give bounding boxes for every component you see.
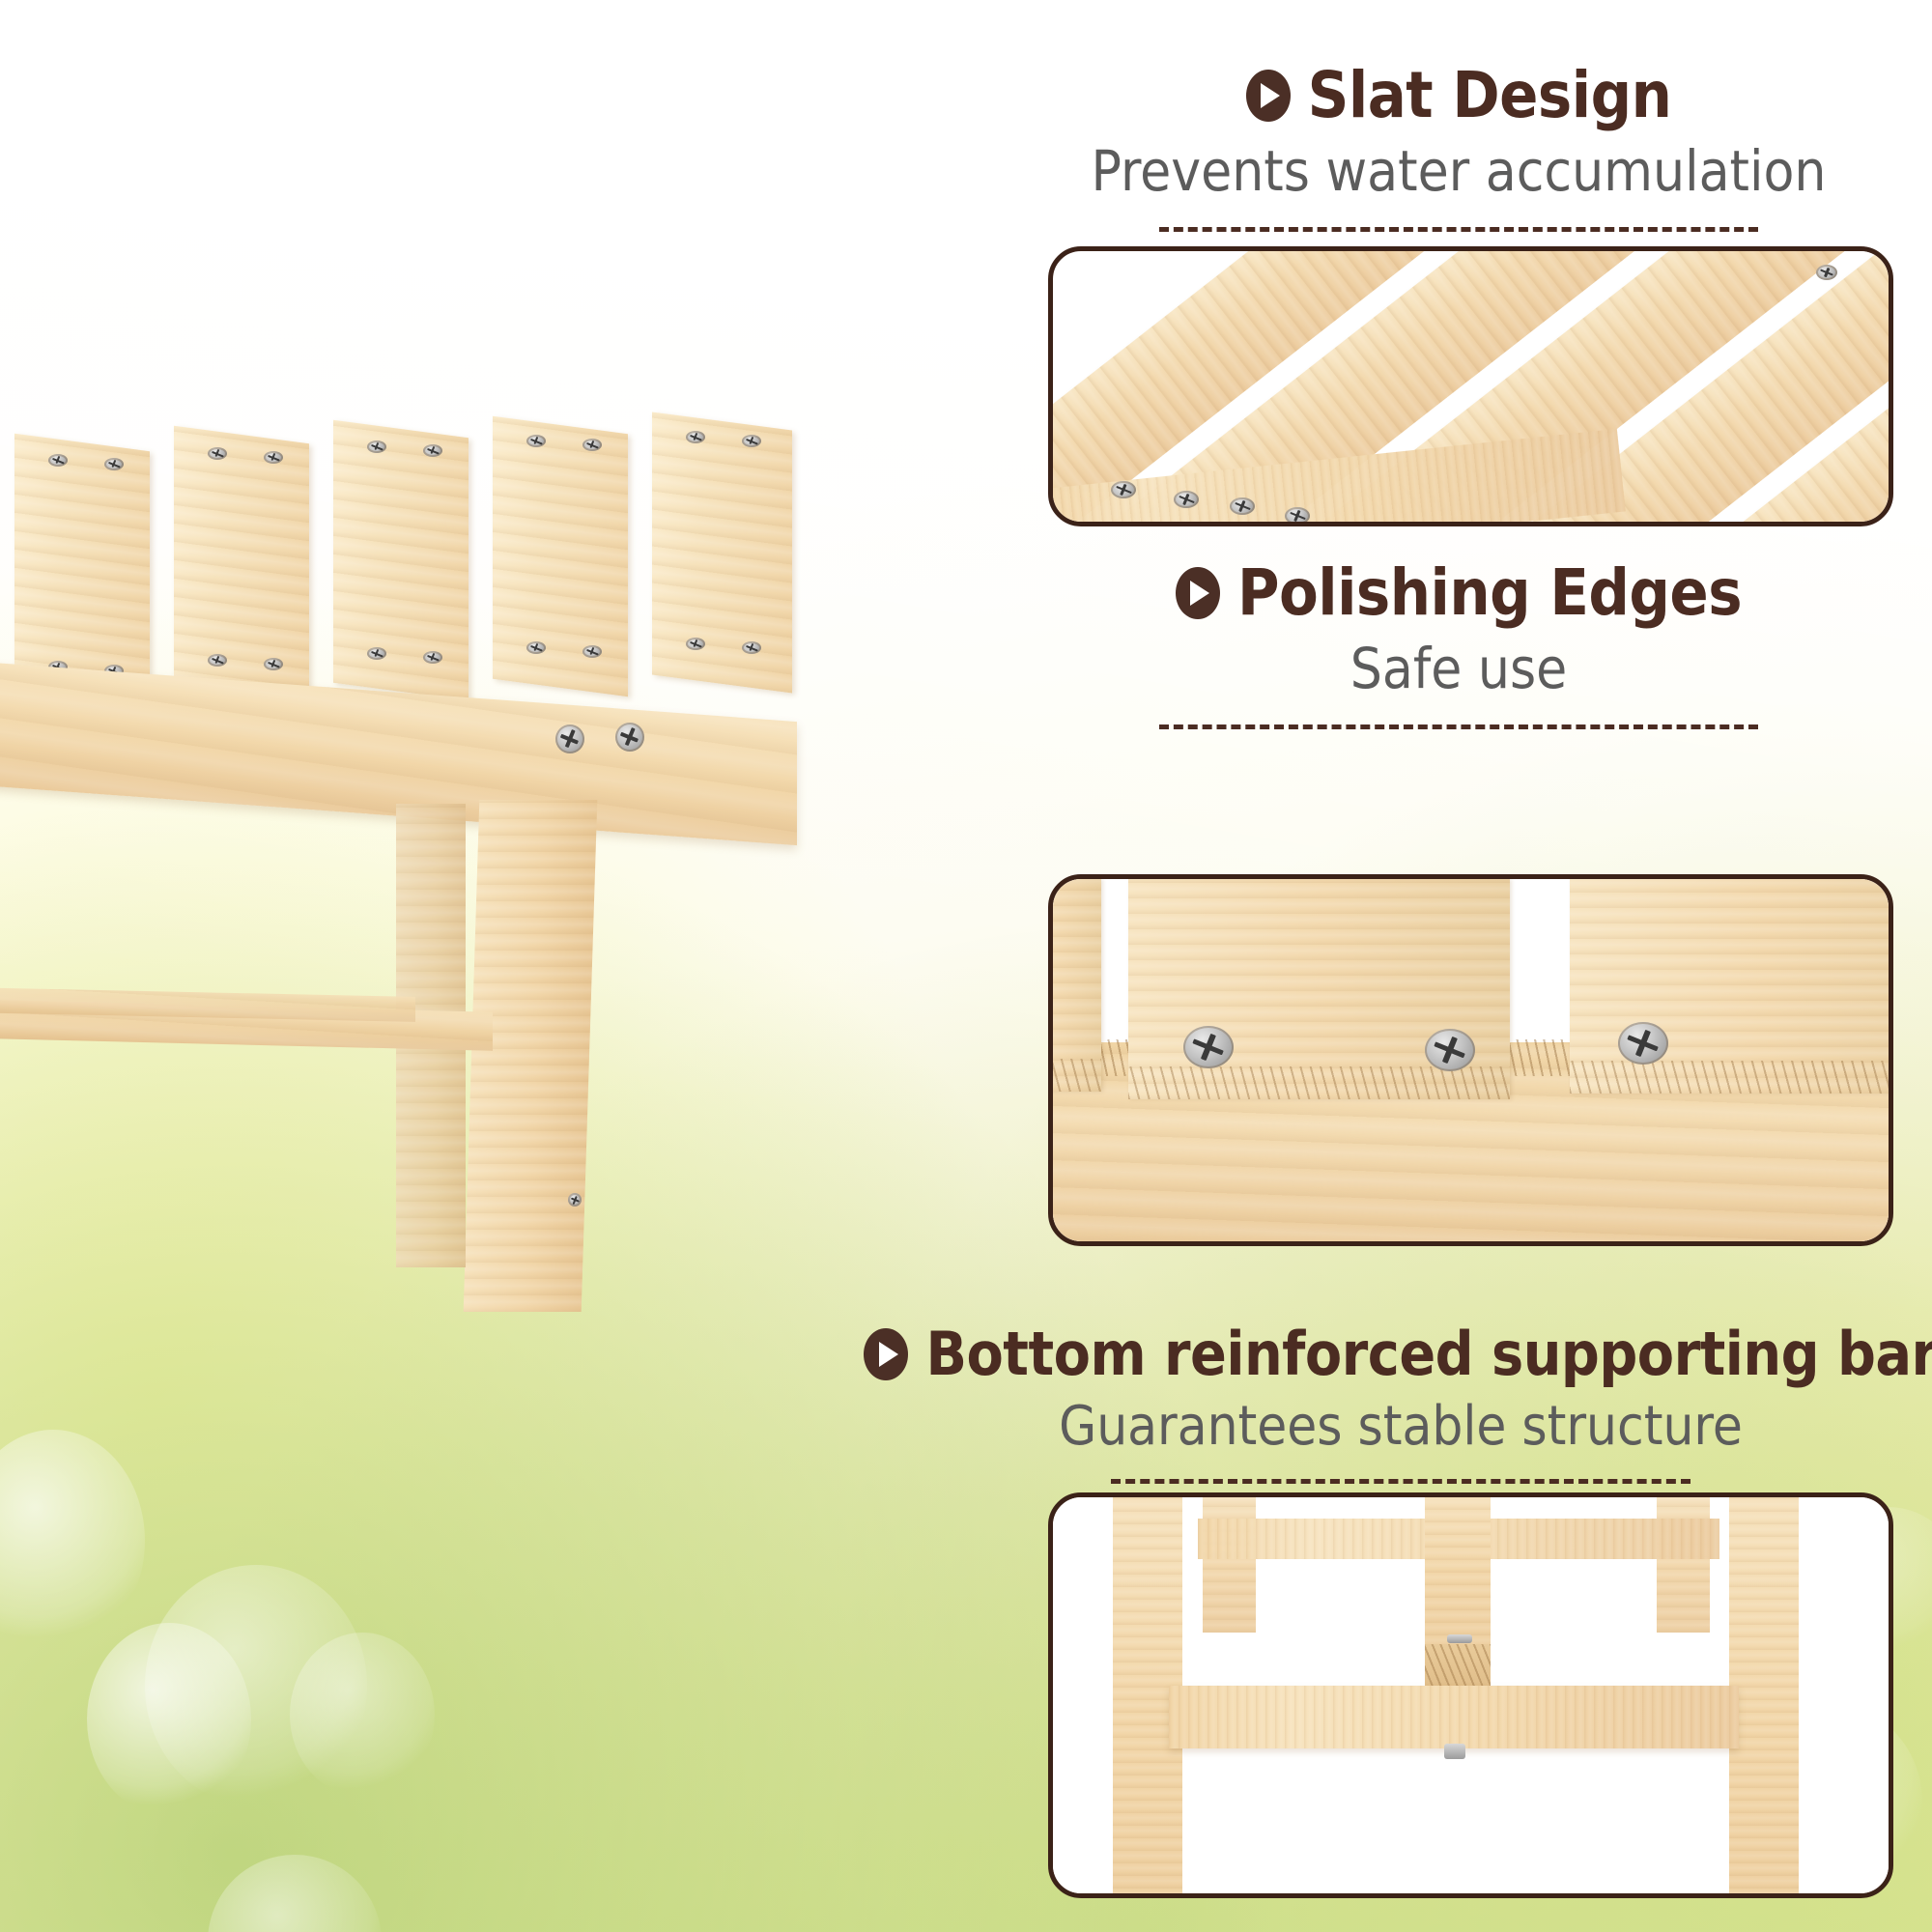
screw-head: [568, 1193, 582, 1207]
bench-leg-front-right: [1729, 1492, 1799, 1898]
feature-3-subtitle: Guarantees stable structure: [889, 1395, 1913, 1458]
bench-slat: [333, 420, 469, 700]
polished-edge: [1048, 1059, 1101, 1092]
feature-block-3: Bottom reinforced supporting bar Guarant…: [889, 1319, 1913, 1484]
feature-3-divider: [1111, 1479, 1690, 1484]
play-triangle-icon: [864, 1328, 908, 1380]
feature-1-divider: [1159, 227, 1758, 232]
vertical-slat: [1570, 879, 1893, 1094]
screw-head: [208, 447, 227, 460]
screw-head: [367, 440, 386, 453]
screw-head: [582, 439, 602, 451]
screw-head: [48, 454, 68, 467]
screw-head: [1174, 491, 1199, 508]
screw-head: [1618, 1022, 1668, 1065]
screw-head: [742, 641, 761, 654]
feature-1-photo: [1048, 246, 1893, 526]
bench-slat: [493, 416, 628, 696]
screw-head: [1285, 507, 1310, 525]
bench-leg-front: [464, 800, 598, 1312]
bottom-reinforced-supporting-bar: [1169, 1686, 1739, 1748]
vertical-slat: [1048, 879, 1101, 1092]
screw-head: [423, 651, 442, 664]
bench-slat: [174, 426, 309, 706]
feature-block-1: Slat Design Prevents water accumulation: [1005, 58, 1913, 232]
screw-head: [742, 435, 761, 447]
play-triangle-icon: [1246, 70, 1291, 122]
screw-head: [423, 444, 442, 457]
screw-head: [1111, 481, 1136, 498]
screw-head: [208, 654, 227, 667]
screw-head: [264, 451, 283, 464]
screw-head: [686, 638, 705, 650]
screw-head: [1816, 265, 1837, 280]
feature-2-divider: [1159, 724, 1758, 729]
feature-3-photo: [1048, 1492, 1893, 1898]
screw-head: [526, 641, 546, 654]
hero-product-photo: [0, 415, 869, 1439]
screw-head: [526, 435, 546, 447]
screw-head: [264, 658, 283, 670]
screw-head: [1425, 1029, 1475, 1071]
screw-head: [367, 647, 386, 660]
screw-head: [1230, 497, 1255, 515]
play-triangle-icon: [1176, 567, 1220, 619]
screw-head: [555, 724, 584, 753]
feature-3-title: Bottom reinforced supporting bar: [925, 1319, 1932, 1389]
bench-leg-rear: [1657, 1492, 1710, 1633]
polished-edge: [1128, 1066, 1510, 1099]
feature-2-heading-row: Polishing Edges: [1005, 555, 1913, 630]
bench-leg-rear: [1203, 1492, 1256, 1633]
screw-head: [582, 645, 602, 658]
feature-2-subtitle: Safe use: [1005, 636, 1913, 701]
infographic-canvas: Slat Design Prevents water accumulation: [0, 0, 1932, 1932]
feature-2-title: Polishing Edges: [1237, 555, 1742, 630]
screw-head: [615, 723, 644, 752]
feature-1-title: Slat Design: [1308, 58, 1672, 132]
bench-slat: [652, 412, 792, 693]
feature-3-heading-row: Bottom reinforced supporting bar: [889, 1319, 1913, 1389]
screw-head: [104, 458, 124, 470]
brace-end-grain: [1425, 1644, 1491, 1690]
feature-2-photo: [1048, 874, 1893, 1246]
bolt-head: [1447, 1634, 1472, 1643]
screw-head: [1183, 1026, 1234, 1068]
polished-edge: [1570, 1061, 1893, 1094]
feature-1-subtitle: Prevents water accumulation: [1005, 138, 1913, 204]
screw-head: [686, 431, 705, 443]
bolt-head: [1444, 1744, 1465, 1759]
feature-block-2: Polishing Edges Safe use: [1005, 555, 1913, 729]
feature-1-heading-row: Slat Design: [1005, 58, 1913, 132]
